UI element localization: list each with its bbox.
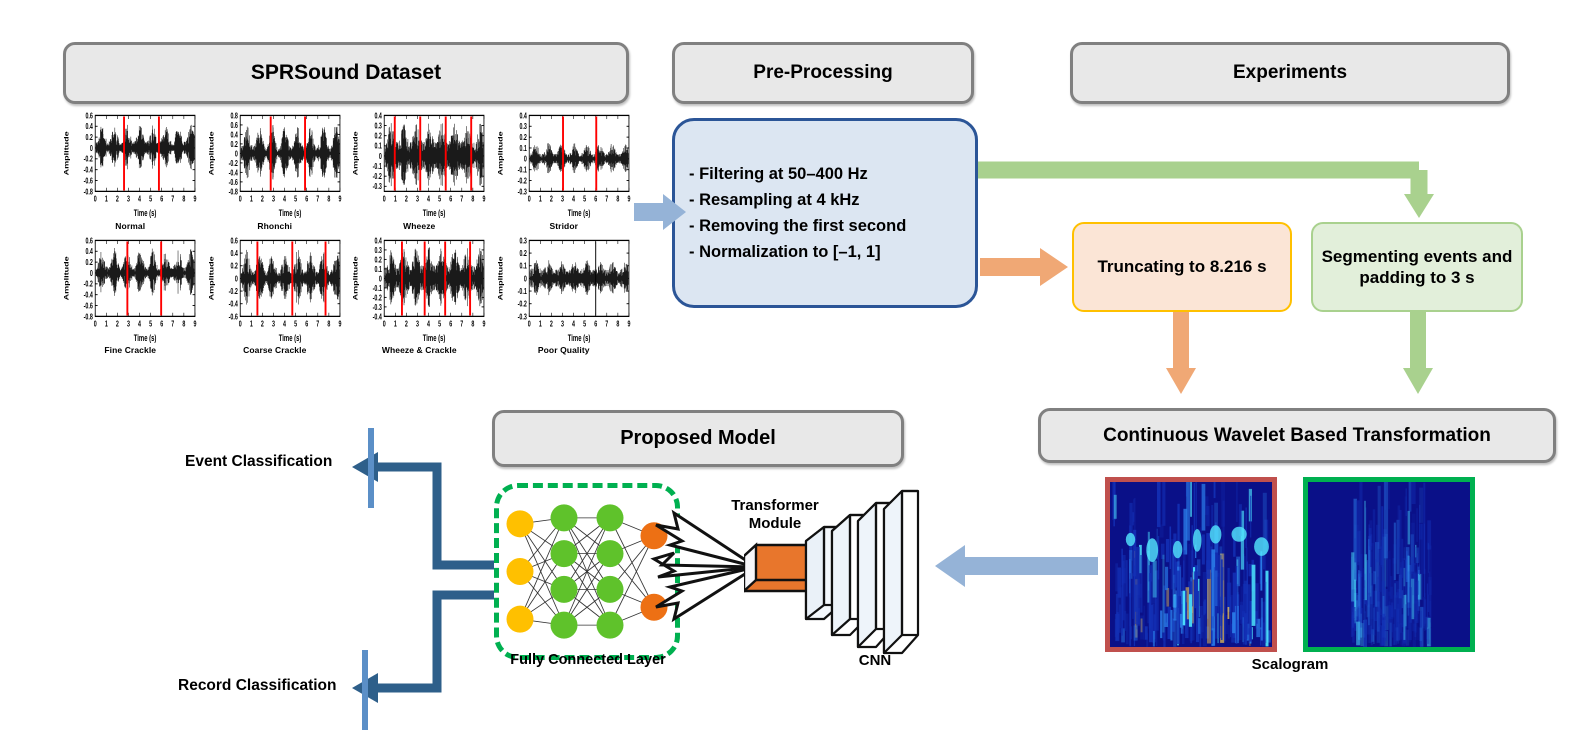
arrow-segmenting-to-transformation [1403, 312, 1433, 394]
svg-text:8: 8 [327, 320, 330, 328]
svg-text:9: 9 [482, 320, 485, 328]
svg-text:-0.2: -0.2 [517, 300, 526, 308]
svg-text:3: 3 [127, 320, 130, 328]
svg-text:7: 7 [605, 320, 608, 328]
svg-text:0: 0 [234, 275, 237, 283]
svg-text:4: 4 [283, 195, 286, 203]
svg-text:2: 2 [405, 320, 408, 328]
svg-text:5: 5 [294, 320, 297, 328]
svg-text:0: 0 [527, 195, 530, 203]
svg-text:1: 1 [249, 195, 252, 203]
neuron-node [507, 606, 534, 633]
svg-text:Time (s): Time (s) [134, 208, 157, 219]
svg-text:0.2: 0.2 [230, 141, 238, 149]
svg-text:-0.6: -0.6 [228, 313, 237, 321]
svg-text:7: 7 [171, 320, 174, 328]
svg-text:1: 1 [249, 320, 252, 328]
svg-text:2: 2 [405, 195, 408, 203]
svg-text:0: 0 [94, 320, 97, 328]
svg-text:Amplitude: Amplitude [63, 256, 70, 300]
svg-text:6: 6 [594, 320, 597, 328]
svg-text:5: 5 [583, 320, 586, 328]
waveform-plot: 01234567890.30.20.10-0.1-0.2-0.3Time (s)… [496, 235, 633, 344]
neuron-node [507, 558, 534, 585]
svg-text:5: 5 [438, 320, 441, 328]
svg-text:Amplitude: Amplitude [208, 131, 215, 175]
svg-text:Amplitude: Amplitude [208, 256, 215, 300]
svg-text:Amplitude: Amplitude [497, 256, 504, 300]
svg-text:0.1: 0.1 [519, 262, 527, 270]
svg-text:0.2: 0.2 [374, 133, 382, 141]
waveform-card: 01234567890.80.60.40.20-0.2-0.4-0.6-0.8T… [207, 110, 344, 231]
svg-text:-0.2: -0.2 [373, 294, 382, 302]
experiment-box-segmenting: Segmenting events and padding to 3 s [1311, 222, 1523, 312]
svg-text:8: 8 [327, 195, 330, 203]
svg-text:1: 1 [394, 195, 397, 203]
scalogram-caption: Scalogram [1105, 656, 1475, 673]
svg-text:0.1: 0.1 [519, 145, 527, 153]
svg-text:0.1: 0.1 [374, 265, 382, 273]
svg-text:0.4: 0.4 [374, 112, 382, 120]
neuron-node [597, 612, 624, 639]
svg-text:Time (s): Time (s) [278, 208, 301, 219]
svg-text:Amplitude: Amplitude [497, 131, 504, 175]
svg-text:8: 8 [471, 195, 474, 203]
svg-text:7: 7 [460, 195, 463, 203]
svg-text:6: 6 [594, 195, 597, 203]
svg-text:-0.4: -0.4 [84, 167, 93, 175]
svg-text:0: 0 [383, 195, 386, 203]
neuron-node [597, 576, 624, 603]
svg-text:-0.4: -0.4 [228, 169, 237, 177]
svg-text:2: 2 [260, 195, 263, 203]
neuron-node [507, 510, 534, 537]
waveform-card: 01234567890.60.40.20-0.2-0.4-0.6Time (s)… [207, 235, 344, 356]
preprocessing-step: - Filtering at 50–400 Hz [689, 161, 961, 187]
svg-text:6: 6 [160, 320, 163, 328]
svg-text:6: 6 [449, 320, 452, 328]
svg-text:5: 5 [149, 320, 152, 328]
svg-text:3: 3 [127, 195, 130, 203]
waveform-plot: 01234567890.40.30.20.10-0.1-0.2-0.3Time … [496, 110, 633, 219]
waveform-caption: Stridor [496, 221, 633, 231]
svg-text:-0.4: -0.4 [228, 300, 237, 308]
svg-text:-0.4: -0.4 [373, 313, 382, 321]
waveform-card: 01234567890.60.40.20-0.2-0.4-0.6-0.8Time… [62, 235, 199, 356]
svg-text:6: 6 [160, 195, 163, 203]
waveform-caption: Wheeze & Crackle [351, 345, 488, 355]
svg-text:Time (s): Time (s) [134, 332, 157, 343]
waveform-card: 01234567890.40.30.20.10-0.1-0.2-0.3Time … [496, 110, 633, 231]
svg-text:0.4: 0.4 [374, 237, 382, 245]
section-header-experiments: Experiments [1070, 42, 1510, 104]
svg-text:7: 7 [460, 320, 463, 328]
svg-text:1: 1 [105, 320, 108, 328]
svg-text:4: 4 [427, 195, 430, 203]
arrow-fc-to-event-classification [352, 428, 494, 565]
neuron-node [551, 576, 578, 603]
svg-text:9: 9 [338, 195, 341, 203]
svg-text:-0.2: -0.2 [84, 280, 93, 288]
cnn-label: CNN [820, 652, 930, 669]
svg-text:0: 0 [383, 320, 386, 328]
svg-text:0.3: 0.3 [519, 123, 527, 131]
svg-text:0: 0 [234, 150, 237, 158]
neuron-node [597, 540, 624, 567]
diagram-canvas: SPRSound Dataset Pre-Processing Experime… [0, 0, 1580, 747]
svg-text:0.6: 0.6 [230, 237, 238, 245]
waveform-caption: Coarse Crackle [207, 345, 344, 355]
svg-text:0: 0 [238, 195, 241, 203]
waveform-caption: Poor Quality [496, 345, 633, 355]
waveform-card: 01234567890.60.40.20-0.2-0.4-0.6-0.8Time… [62, 110, 199, 231]
section-header-proposed-model: Proposed Model [492, 410, 904, 467]
waveform-caption: Normal [62, 221, 199, 231]
record-scalogram-image [1105, 477, 1277, 652]
svg-text:0.4: 0.4 [519, 112, 527, 120]
waveform-caption: Fine Crackle [62, 345, 199, 355]
svg-text:0: 0 [523, 156, 526, 164]
preprocessing-step: - Normalization to [–1, 1] [689, 239, 961, 265]
svg-text:3: 3 [560, 195, 563, 203]
svg-text:8: 8 [182, 320, 185, 328]
svg-text:0.6: 0.6 [85, 112, 93, 120]
svg-text:6: 6 [305, 320, 308, 328]
svg-text:0.4: 0.4 [230, 250, 238, 258]
svg-text:Time (s): Time (s) [423, 208, 446, 219]
svg-text:0.3: 0.3 [374, 246, 382, 254]
svg-text:-0.8: -0.8 [84, 188, 93, 196]
svg-text:5: 5 [149, 195, 152, 203]
svg-text:0: 0 [238, 320, 241, 328]
fully-connected-layer-label: Fully Connected Layer [470, 652, 706, 668]
svg-text:7: 7 [171, 195, 174, 203]
neuron-node [597, 504, 624, 531]
svg-text:-0.6: -0.6 [84, 178, 93, 186]
svg-text:4: 4 [572, 320, 575, 328]
section-header-preprocessing: Pre-Processing [672, 42, 974, 104]
svg-text:4: 4 [572, 195, 575, 203]
arrow-preprocessing-to-truncating [980, 248, 1068, 286]
arrow-preprocessing-to-segmenting [978, 170, 1434, 218]
svg-text:-0.2: -0.2 [228, 288, 237, 296]
waveform-plot: 01234567890.80.60.40.20-0.2-0.4-0.6-0.8T… [207, 110, 344, 219]
svg-text:9: 9 [627, 320, 630, 328]
svg-text:0: 0 [379, 275, 382, 283]
waveform-caption: Wheeze [351, 221, 488, 231]
svg-text:-0.3: -0.3 [517, 313, 526, 321]
neuron-node [551, 612, 578, 639]
svg-text:0: 0 [90, 269, 93, 277]
preprocessing-steps-box: - Filtering at 50–400 Hz - Resampling at… [672, 118, 978, 308]
waveform-plot: 01234567890.60.40.20-0.2-0.4-0.6-0.8Time… [62, 110, 199, 219]
svg-text:0.3: 0.3 [519, 237, 527, 245]
svg-text:3: 3 [416, 320, 419, 328]
waveform-gallery: 01234567890.60.40.20-0.2-0.4-0.6-0.8Time… [62, 110, 632, 355]
svg-text:Time (s): Time (s) [567, 332, 590, 343]
svg-text:-0.1: -0.1 [373, 284, 382, 292]
svg-text:2: 2 [260, 320, 263, 328]
waveform-plot: 01234567890.60.40.20-0.2-0.4-0.6Time (s)… [207, 235, 344, 344]
svg-text:0.2: 0.2 [85, 259, 93, 267]
svg-text:-0.3: -0.3 [517, 188, 526, 196]
svg-text:0: 0 [379, 153, 382, 161]
svg-text:9: 9 [193, 195, 196, 203]
svg-text:Time (s): Time (s) [567, 208, 590, 219]
svg-text:9: 9 [193, 320, 196, 328]
svg-text:-0.6: -0.6 [228, 179, 237, 187]
svg-text:0: 0 [94, 195, 97, 203]
svg-text:-0.3: -0.3 [373, 303, 382, 311]
svg-text:2: 2 [549, 320, 552, 328]
svg-text:0.6: 0.6 [230, 122, 238, 130]
svg-text:1: 1 [538, 320, 541, 328]
svg-text:-0.2: -0.2 [517, 178, 526, 186]
svg-text:6: 6 [449, 195, 452, 203]
svg-text:-0.8: -0.8 [228, 188, 237, 196]
svg-text:-0.2: -0.2 [373, 173, 382, 181]
svg-text:5: 5 [583, 195, 586, 203]
neuron-node [551, 504, 578, 531]
svg-text:1: 1 [105, 195, 108, 203]
svg-text:0: 0 [523, 275, 526, 283]
svg-text:3: 3 [416, 195, 419, 203]
svg-text:8: 8 [182, 195, 185, 203]
waveform-plot: 01234567890.40.30.20.10-0.1-0.2-0.3Time … [351, 110, 488, 219]
svg-text:7: 7 [316, 320, 319, 328]
svg-text:5: 5 [438, 195, 441, 203]
svg-text:-0.3: -0.3 [373, 183, 382, 191]
svg-text:8: 8 [616, 195, 619, 203]
preprocessing-step: - Removing the first second [689, 213, 961, 239]
waveform-caption: Rhonchi [207, 221, 344, 231]
svg-text:1: 1 [538, 195, 541, 203]
svg-text:0.2: 0.2 [85, 134, 93, 142]
output-label-record-classification: Record Classification [178, 677, 337, 695]
svg-text:5: 5 [294, 195, 297, 203]
svg-text:9: 9 [627, 195, 630, 203]
waveform-card: 01234567890.40.30.20.10-0.1-0.2-0.3Time … [351, 110, 488, 231]
svg-text:-0.1: -0.1 [373, 163, 382, 171]
section-header-transformation: Continuous Wavelet Based Transformation [1038, 408, 1556, 463]
svg-text:Amplitude: Amplitude [63, 131, 70, 175]
svg-text:3: 3 [271, 195, 274, 203]
svg-text:-0.8: -0.8 [84, 313, 93, 321]
svg-text:4: 4 [138, 320, 141, 328]
svg-text:0.1: 0.1 [374, 143, 382, 151]
svg-text:4: 4 [427, 320, 430, 328]
preprocessing-step: - Resampling at 4 kHz [689, 187, 961, 213]
svg-text:-0.2: -0.2 [228, 160, 237, 168]
svg-text:0.4: 0.4 [85, 123, 93, 131]
svg-text:8: 8 [471, 320, 474, 328]
svg-text:2: 2 [549, 195, 552, 203]
waveform-card: 01234567890.30.20.10-0.1-0.2-0.3Time (s)… [496, 235, 633, 356]
svg-text:-0.1: -0.1 [517, 167, 526, 175]
svg-text:-0.1: -0.1 [517, 288, 526, 296]
waveform-plot: 01234567890.60.40.20-0.2-0.4-0.6-0.8Time… [62, 235, 199, 344]
svg-text:0.2: 0.2 [230, 262, 238, 270]
svg-text:4: 4 [283, 320, 286, 328]
svg-text:0.2: 0.2 [519, 250, 527, 258]
svg-text:7: 7 [605, 195, 608, 203]
event-scalogram-image [1303, 477, 1475, 652]
svg-text:0.8: 0.8 [230, 112, 238, 120]
waveform-card: 01234567890.40.30.20.10-0.1-0.2-0.3-0.4T… [351, 235, 488, 356]
cnn-stack-graphic [800, 483, 930, 655]
svg-text:9: 9 [482, 195, 485, 203]
svg-text:0.4: 0.4 [230, 131, 238, 139]
svg-text:-0.2: -0.2 [84, 156, 93, 164]
svg-text:7: 7 [316, 195, 319, 203]
svg-text:0.6: 0.6 [85, 237, 93, 245]
svg-text:3: 3 [271, 320, 274, 328]
svg-text:0.3: 0.3 [374, 123, 382, 131]
svg-text:0.2: 0.2 [374, 256, 382, 264]
svg-text:6: 6 [305, 195, 308, 203]
svg-text:4: 4 [138, 195, 141, 203]
section-header-dataset: SPRSound Dataset [63, 42, 629, 104]
svg-text:Amplitude: Amplitude [352, 256, 359, 300]
svg-text:Time (s): Time (s) [423, 332, 446, 343]
svg-text:2: 2 [116, 195, 119, 203]
svg-text:Time (s): Time (s) [278, 332, 301, 343]
output-label-event-classification: Event Classification [185, 453, 332, 471]
waveform-plot: 01234567890.40.30.20.10-0.1-0.2-0.3-0.4T… [351, 235, 488, 344]
neuron-node [551, 540, 578, 567]
svg-text:0: 0 [90, 145, 93, 153]
arrow-truncating-to-transformation [1166, 312, 1196, 394]
svg-text:-0.4: -0.4 [84, 291, 93, 299]
svg-text:0: 0 [527, 320, 530, 328]
svg-text:2: 2 [116, 320, 119, 328]
svg-text:0.2: 0.2 [519, 134, 527, 142]
svg-text:Amplitude: Amplitude [352, 131, 359, 175]
svg-text:8: 8 [616, 320, 619, 328]
arrow-transformation-to-cnn [935, 545, 1098, 587]
svg-text:0.4: 0.4 [85, 248, 93, 256]
svg-text:9: 9 [338, 320, 341, 328]
experiment-box-truncating: Truncating to 8.216 s [1072, 222, 1292, 312]
svg-text:1: 1 [394, 320, 397, 328]
svg-text:-0.6: -0.6 [84, 302, 93, 310]
svg-text:3: 3 [560, 320, 563, 328]
